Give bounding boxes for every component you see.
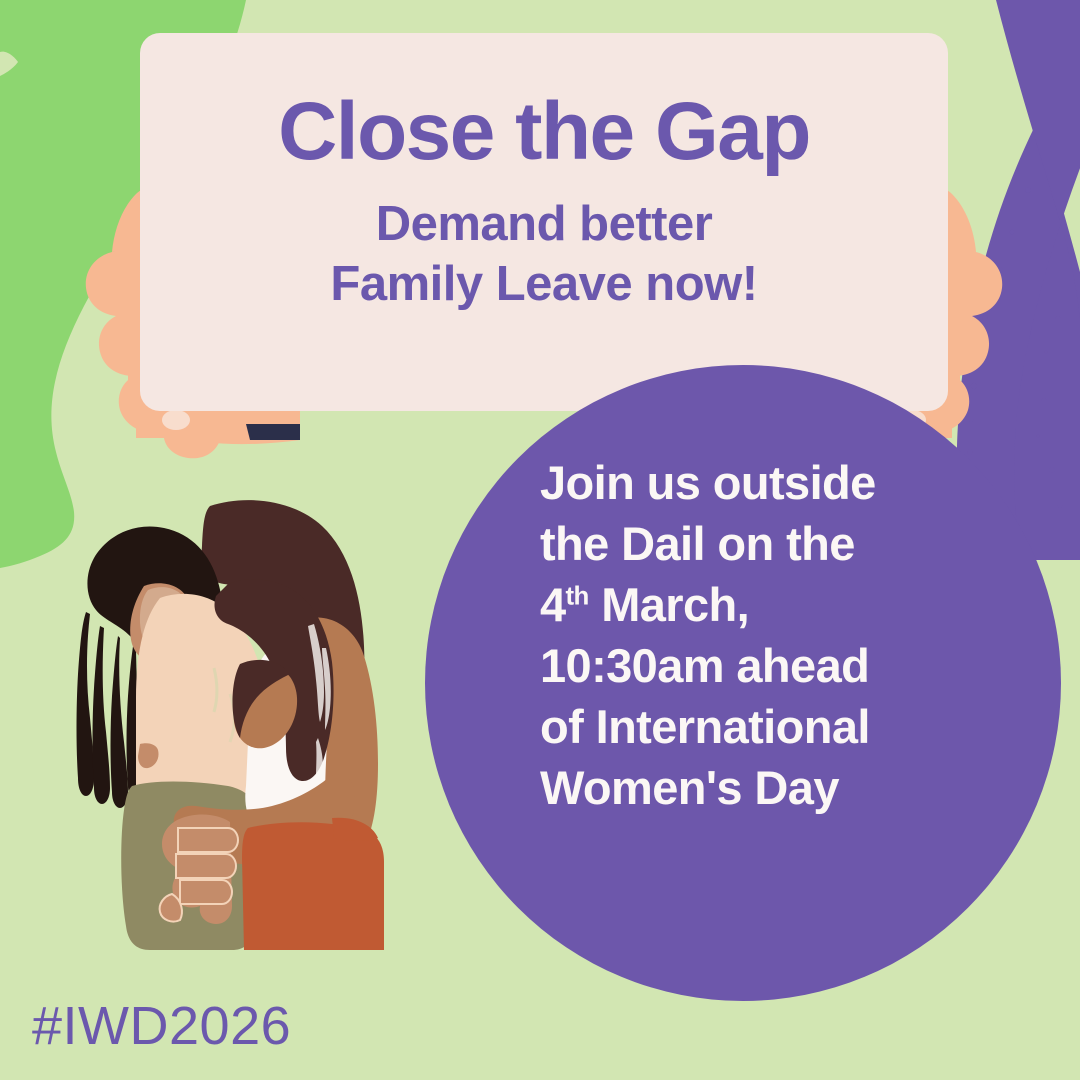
- fingernail: [162, 410, 190, 430]
- right-woman-fingers: [176, 828, 238, 904]
- placard-headline: Close the Gap: [278, 91, 810, 173]
- event-date-number: 4: [540, 578, 566, 631]
- poster-canvas: Close the Gap Demand better Family Leave…: [0, 0, 1080, 1080]
- event-line-6: Women's Day: [540, 757, 980, 818]
- event-line-2: the Dail on the: [540, 513, 980, 574]
- protest-placard: Close the Gap Demand better Family Leave…: [140, 33, 948, 411]
- ordinal-suffix: th: [566, 583, 589, 611]
- event-line-3: 4th March,: [540, 574, 980, 635]
- event-line-4: 10:30am ahead: [540, 635, 980, 696]
- two-women-embracing-illustration: [32, 498, 422, 950]
- event-month: March,: [589, 578, 749, 631]
- placard-subline-1: Demand better: [376, 195, 713, 255]
- campaign-hashtag: #IWD2026: [32, 995, 291, 1057]
- event-line-5: of International: [540, 696, 980, 757]
- event-line-1: Join us outside: [540, 452, 980, 513]
- rust-skirt: [242, 822, 384, 950]
- event-details-text: Join us outside the Dail on the 4th Marc…: [540, 452, 980, 819]
- placard-subline-2: Family Leave now!: [330, 255, 757, 315]
